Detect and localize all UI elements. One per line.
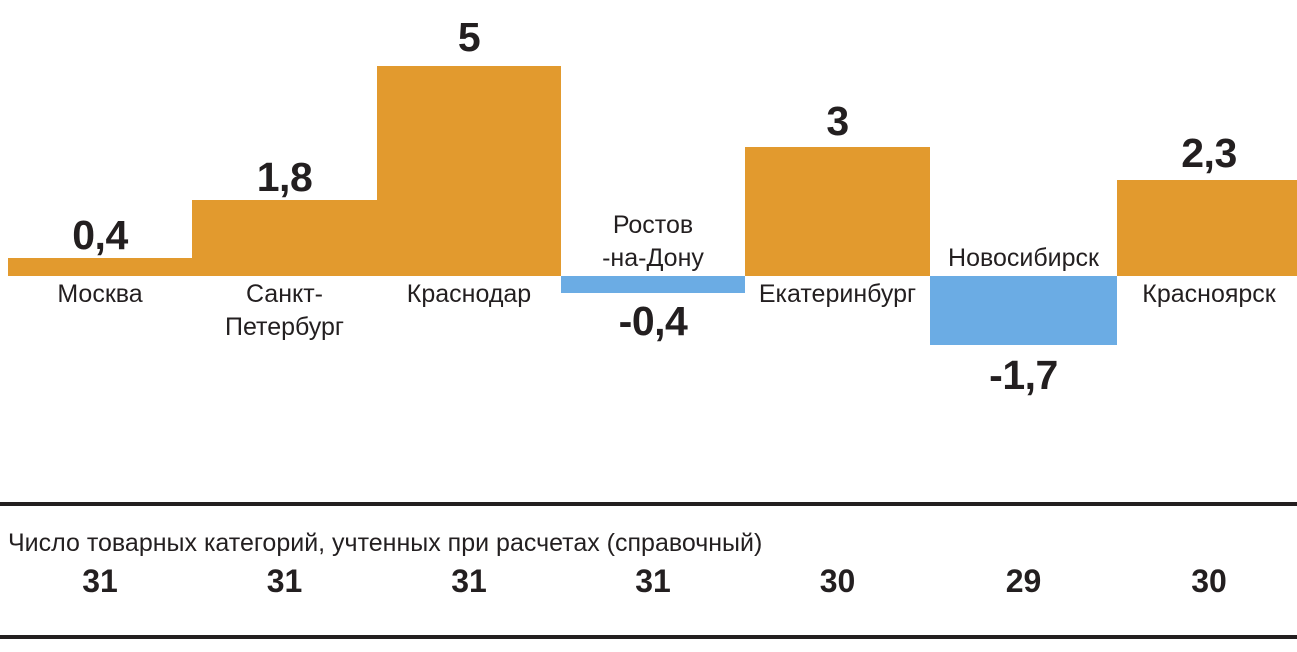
bar-ekaterinburg[interactable]: [745, 147, 930, 276]
bar-krasnoyarsk[interactable]: [1117, 180, 1297, 276]
category-label-line: Ростов: [602, 209, 704, 242]
count-cell: 31: [561, 562, 745, 600]
value-label-krasnodar: 5: [377, 14, 561, 60]
reference-table: Число товарных категорий, учтенных при р…: [0, 500, 1297, 642]
category-label-sankt-peterburg: Санкт- Петербург: [225, 278, 344, 344]
bar-column-krasnodar: 5 Краснодар: [377, 0, 561, 470]
value-label-rostov-na-donu: -0,4: [561, 298, 745, 344]
count-cell: 31: [8, 562, 192, 600]
bar-column-moskva: 0,4 Москва: [8, 0, 192, 470]
table-bottom-rule: [0, 635, 1297, 639]
bar-rostov-na-donu[interactable]: [561, 276, 745, 293]
table-title: Число товарных категорий, учтенных при р…: [8, 528, 762, 558]
bar-krasnodar[interactable]: [377, 66, 561, 276]
category-label-line: Москва: [57, 278, 142, 311]
value-label-novosibirsk: -1,7: [930, 352, 1117, 398]
bar-sankt-peterburg[interactable]: [192, 200, 377, 276]
value-label-krasnoyarsk: 2,3: [1117, 130, 1297, 176]
category-label-line: Новосибирск: [948, 242, 1099, 275]
value-label-ekaterinburg: 3: [745, 98, 930, 144]
category-label-moskva: Москва: [57, 278, 142, 311]
category-label-novosibirsk: Новосибирск: [948, 242, 1099, 275]
category-label-rostov-na-donu: Ростов -на-Дону: [602, 209, 704, 275]
bar-column-novosibirsk: Новосибирск -1,7: [930, 0, 1117, 470]
value-label-moskva: 0,4: [8, 212, 192, 258]
category-label-line: Екатеринбург: [759, 278, 916, 311]
category-label-line: Санкт-: [225, 278, 344, 311]
count-cell: 31: [192, 562, 377, 600]
bar-column-sankt-peterburg: 1,8 Санкт- Петербург: [192, 0, 377, 470]
table-top-rule: [0, 502, 1297, 506]
category-label-krasnoyarsk: Красноярск: [1142, 278, 1275, 311]
category-label-krasnodar: Краснодар: [407, 278, 531, 311]
bar-novosibirsk[interactable]: [930, 276, 1117, 345]
count-cell: 31: [377, 562, 561, 600]
category-label-ekaterinburg: Екатеринбург: [759, 278, 916, 311]
bar-column-ekaterinburg: 3 Екатеринбург: [745, 0, 930, 470]
category-label-line: Красноярск: [1142, 278, 1275, 311]
value-label-sankt-peterburg: 1,8: [192, 154, 377, 200]
bar-chart: 0,4 Москва 1,8 Санкт- Петербург 5 Красно…: [0, 0, 1297, 470]
count-cell: 30: [745, 562, 930, 600]
count-cell: 29: [930, 562, 1117, 600]
category-label-line: Петербург: [225, 311, 344, 344]
bar-column-rostov-na-donu: Ростов -на-Дону -0,4: [561, 0, 745, 470]
count-cell: 30: [1117, 562, 1297, 600]
bar-column-krasnoyarsk: 2,3 Красноярск: [1117, 0, 1297, 470]
bar-moskva[interactable]: [8, 258, 192, 276]
category-label-line: -на-Дону: [602, 242, 704, 275]
category-label-line: Краснодар: [407, 278, 531, 311]
